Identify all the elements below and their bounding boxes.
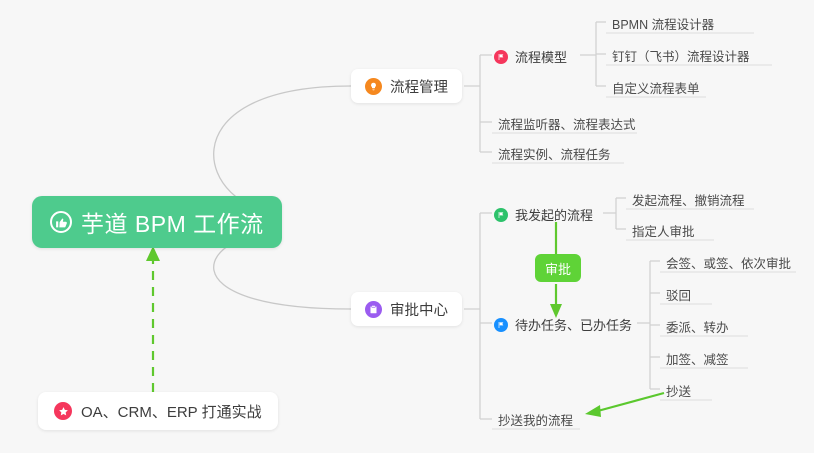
approval-tag[interactable]: 审批 bbox=[535, 254, 581, 282]
lightbulb-icon bbox=[365, 78, 382, 95]
leaf-listener-expression[interactable]: 流程监听器、流程表达式 bbox=[492, 114, 642, 137]
subnode-label: 我发起的流程 bbox=[515, 205, 593, 224]
leaf-initiate-cancel[interactable]: 发起流程、撤销流程 bbox=[626, 190, 751, 213]
cc-arrow-line bbox=[594, 393, 664, 412]
footer-to-root-arrow bbox=[146, 246, 160, 392]
cc-link-arrow bbox=[585, 393, 664, 417]
subnode-label: 流程模型 bbox=[515, 47, 567, 66]
subnode-label: 待办任务、已办任务 bbox=[515, 315, 632, 334]
leaf-reject[interactable]: 驳回 bbox=[660, 285, 697, 308]
leaf-instance-task[interactable]: 流程实例、流程任务 bbox=[492, 144, 617, 167]
thumbs-up-icon bbox=[50, 211, 72, 233]
branch-label: 流程管理 bbox=[390, 76, 448, 97]
root-label: 芋道 BPM 工作流 bbox=[81, 205, 264, 239]
root-node[interactable]: 芋道 BPM 工作流 bbox=[32, 196, 282, 248]
subnode-process-model[interactable]: 流程模型 bbox=[494, 47, 567, 66]
approval-tag-label: 审批 bbox=[545, 259, 571, 278]
branch-approval-center[interactable]: 审批中心 bbox=[351, 292, 462, 326]
flag-icon bbox=[494, 318, 508, 332]
branch-label: 审批中心 bbox=[390, 299, 448, 320]
leaf-assignee-approval[interactable]: 指定人审批 bbox=[626, 221, 701, 244]
leaf-custom-form[interactable]: 自定义流程表单 bbox=[606, 78, 706, 101]
footer-card-integration[interactable]: OA、CRM、ERP 打通实战 bbox=[38, 392, 278, 430]
leaf-cc[interactable]: 抄送 bbox=[660, 381, 697, 404]
cc-arrow-head bbox=[585, 405, 601, 417]
leaf-countersign[interactable]: 会签、或签、依次审批 bbox=[660, 253, 797, 276]
subnode-todo-done-tasks[interactable]: 待办任务、已办任务 bbox=[494, 315, 632, 334]
footer-card-label: OA、CRM、ERP 打通实战 bbox=[81, 401, 262, 422]
branch-process-management[interactable]: 流程管理 bbox=[351, 69, 462, 103]
flag-icon bbox=[494, 50, 508, 64]
flag-icon bbox=[494, 208, 508, 222]
link-root-to-process-management bbox=[214, 86, 351, 212]
clipboard-icon bbox=[365, 301, 382, 318]
leaf-bpmn-designer[interactable]: BPMN 流程设计器 bbox=[606, 14, 720, 37]
leaf-dingtalk-designer[interactable]: 钉钉（飞书）流程设计器 bbox=[606, 46, 756, 69]
star-icon bbox=[54, 402, 72, 420]
subnode-my-initiated[interactable]: 我发起的流程 bbox=[494, 205, 593, 224]
mindmap-canvas: 芋道 BPM 工作流 流程管理 审批中心 流程模型 我发起的流程 待办任务、已办… bbox=[0, 0, 814, 453]
footer-arrow-head bbox=[146, 246, 160, 261]
leaf-delegate-transfer[interactable]: 委派、转办 bbox=[660, 317, 735, 340]
leaf-cc-my-process[interactable]: 抄送我的流程 bbox=[492, 410, 579, 433]
leaf-add-remove-sign[interactable]: 加签、减签 bbox=[660, 349, 735, 372]
